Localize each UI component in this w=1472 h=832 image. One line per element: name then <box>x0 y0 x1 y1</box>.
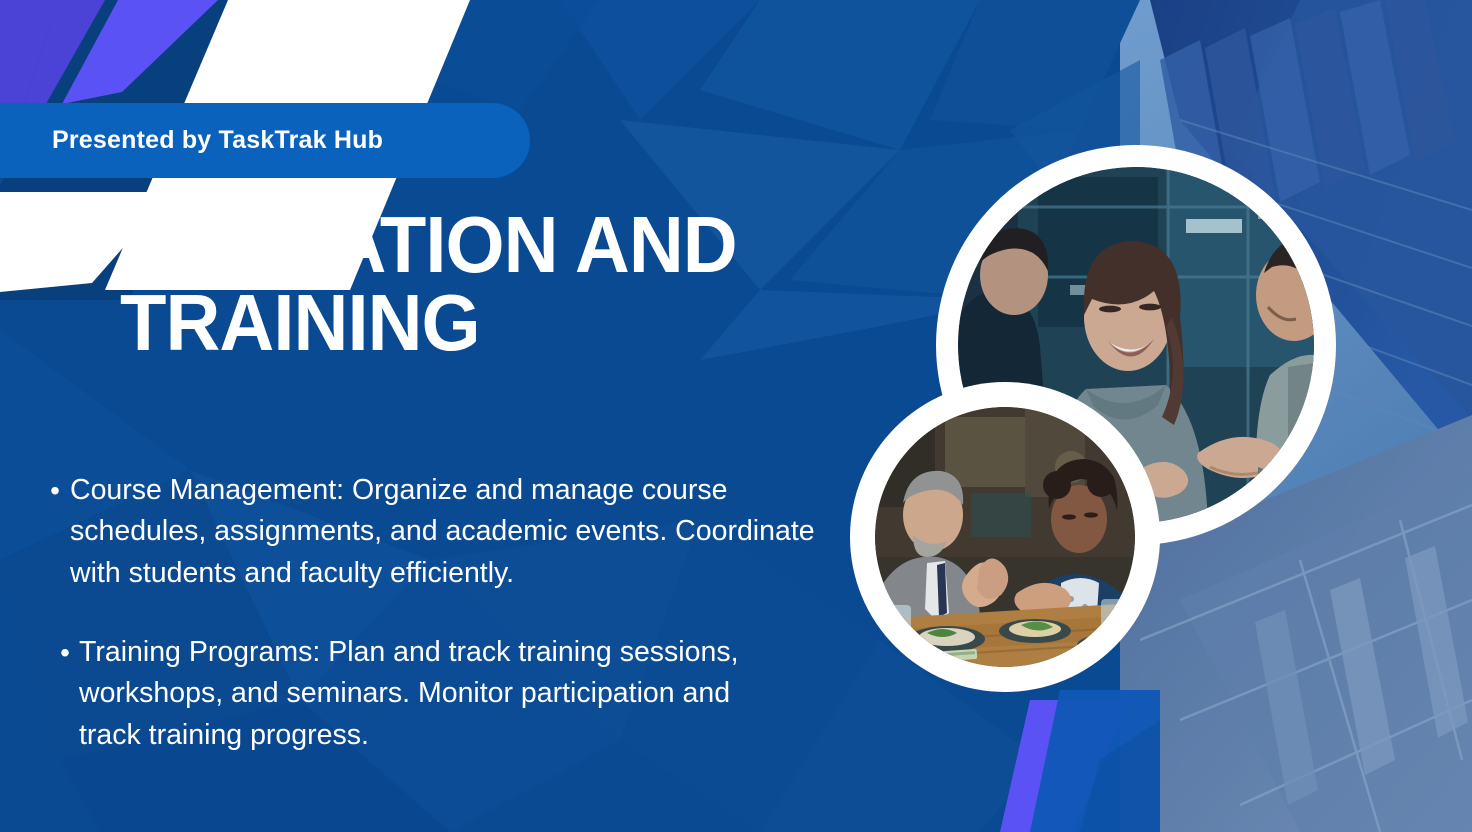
list-item-text: Course Management: Organize and manage c… <box>70 470 840 594</box>
bullet-list: • Course Management: Organize and manage… <box>0 470 860 756</box>
business-lunch-meeting-photo <box>875 407 1135 667</box>
list-item-text: Training Programs: Plan and track traini… <box>79 632 779 756</box>
bullet-marker-icon: • <box>54 633 76 674</box>
page-title: EDUCATION AND TRAINING <box>120 206 842 363</box>
list-item: • Training Programs: Plan and track trai… <box>79 632 779 756</box>
presented-by-label: Presented by TaskTrak Hub <box>52 126 383 155</box>
presentation-slide: Presented by TaskTrak Hub EDUCATION AND … <box>0 0 1472 832</box>
presented-by-badge: Presented by TaskTrak Hub <box>0 103 530 178</box>
list-item: • Course Management: Organize and manage… <box>70 470 840 594</box>
bullet-marker-icon: • <box>44 471 66 512</box>
